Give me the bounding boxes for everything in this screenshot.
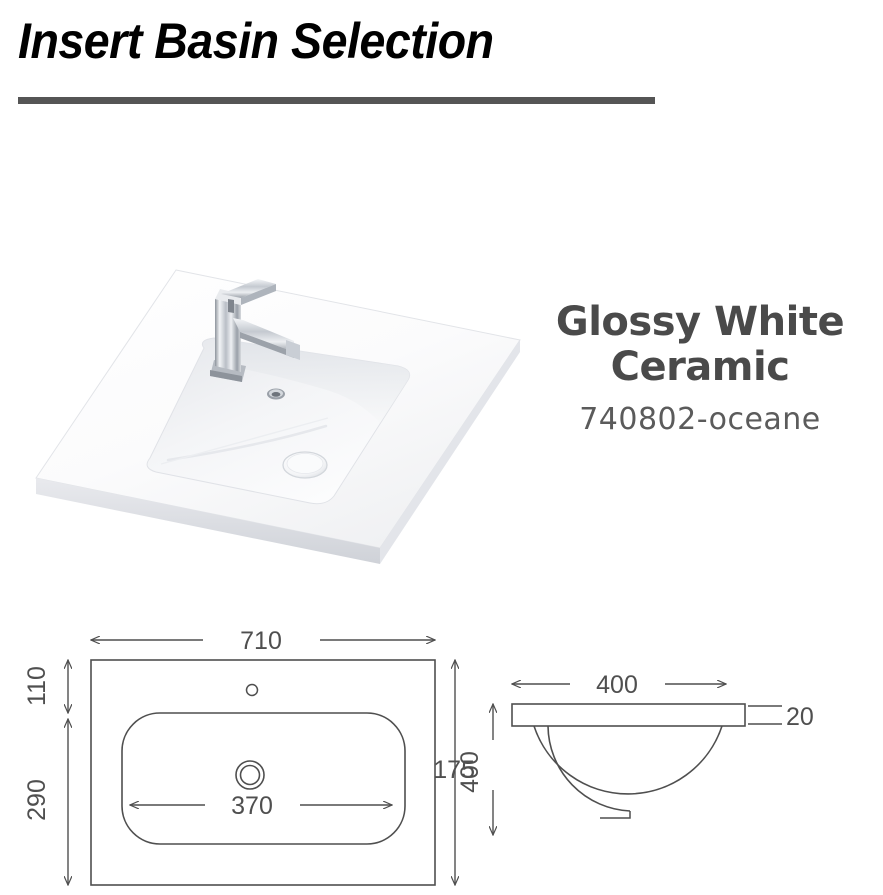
title-divider: [18, 97, 655, 104]
material-line-1: Glossy White: [520, 300, 880, 345]
tap-hole-icon: [247, 685, 258, 696]
dimension-label-175: 175: [433, 756, 475, 784]
dimension-label-400-side: 400: [596, 671, 638, 699]
dimension-label-20: 20: [786, 703, 814, 731]
page-title: Insert Basin Selection: [18, 14, 494, 69]
model-code: 740802-oceane: [520, 402, 880, 437]
dimension-label-710: 710: [240, 627, 282, 655]
dimension-label-110: 110: [23, 666, 51, 706]
drain-cover-icon: [283, 452, 327, 478]
waste-hole-icon: [236, 761, 264, 789]
dimension-label-370: 370: [231, 792, 273, 820]
material-line-2: Ceramic: [520, 345, 880, 390]
product-photo: [28, 248, 528, 593]
dimension-label-290: 290: [23, 779, 51, 821]
product-caption: Glossy White Ceramic 740802-oceane: [520, 300, 880, 437]
technical-drawings: 710 110 290 400 370 400 20 175: [0, 600, 883, 895]
dimension-20-leaders: [748, 706, 782, 724]
side-view-outline: [512, 704, 745, 818]
